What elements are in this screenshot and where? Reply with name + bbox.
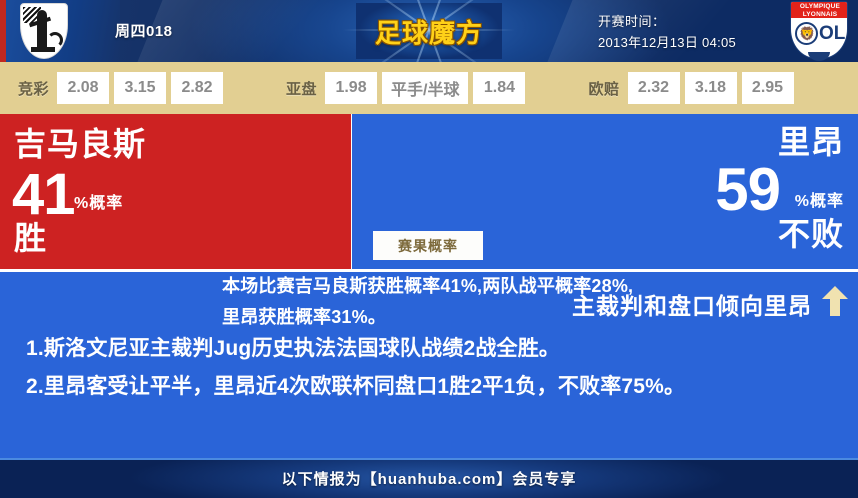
odds-cell-asian-handicap[interactable]: 平手/半球 <box>382 72 468 104</box>
home-team-name: 吉马良斯 <box>14 128 146 160</box>
home-badge-figure-icon <box>37 10 47 50</box>
arrow-up-icon <box>822 286 848 316</box>
odds-cell-asian-home[interactable]: 1.98 <box>325 72 377 104</box>
home-badge-base-icon <box>31 47 55 52</box>
odds-cell-european-away[interactable]: 2.95 <box>742 72 794 104</box>
kickoff-time-label: 开赛时间： <box>598 11 666 30</box>
analysis-list: 1.斯洛文尼亚主裁判Jug历史执法法国球队战绩2战全胜。 2.里昂客受让平半，里… <box>26 330 836 406</box>
probability-section: 吉马良斯 41 %概率 胜 里昂 59 %概率 不败 赛果概率 本场比赛吉马良斯… <box>0 114 858 269</box>
header-accent-bar <box>0 0 6 62</box>
match-number-label: 周四018 <box>115 20 173 41</box>
away-badge-letters: OL <box>819 21 847 47</box>
odds-cell-asian-away[interactable]: 1.84 <box>473 72 525 104</box>
home-outcome-label: 胜 <box>14 222 47 254</box>
home-team-shield-icon <box>20 3 68 59</box>
odds-group-jingcai: 竞彩 2.08 3.15 2.82 <box>18 72 228 104</box>
away-badge-foot-icon <box>808 52 830 61</box>
away-team-badge-icon: OLYMPIQUE LYONNAIS 🦁 OL <box>790 1 848 61</box>
home-probability-suffix: %概率 <box>74 196 123 212</box>
odds-group-asian: 亚盘 1.98 平手/半球 1.84 <box>286 72 530 104</box>
away-probability-value: 59 <box>715 160 780 220</box>
away-outcome-label: 不败 <box>778 218 844 250</box>
odds-cell-jingcai-draw[interactable]: 3.15 <box>114 72 166 104</box>
away-team-name: 里昂 <box>778 126 844 158</box>
away-badge-banner: OLYMPIQUE LYONNAIS <box>791 2 848 18</box>
home-team-badge-icon <box>20 3 68 59</box>
footer-membership-note: 以下情报为【huanhuba.com】会员专享 <box>282 468 577 489</box>
odds-group-label: 亚盘 <box>286 78 317 99</box>
footer-bar: 以下情报为【huanhuba.com】会员专享 <box>0 458 858 498</box>
odds-group-label: 竞彩 <box>18 78 49 99</box>
header-diagonal-sheen-2 <box>547 0 772 62</box>
odds-cell-european-home[interactable]: 2.32 <box>628 72 680 104</box>
odds-cell-jingcai-away[interactable]: 2.82 <box>171 72 223 104</box>
home-probability-panel: 吉马良斯 41 %概率 胜 <box>0 114 351 269</box>
brand-logo: 足球魔方 <box>356 3 502 59</box>
odds-group-european: 欧赔 2.32 3.18 2.95 <box>588 72 798 104</box>
lion-icon: 🦁 <box>799 26 814 41</box>
match-preview-card: 周四018 足球魔方 开赛时间： 2013年12月13日 04:05 OLY <box>0 0 858 498</box>
odds-bar: 竞彩 2.08 3.15 2.82 亚盘 1.98 平手/半球 1.84 欧赔 … <box>0 62 858 114</box>
odds-cell-european-draw[interactable]: 3.18 <box>685 72 737 104</box>
analysis-item-1: 1.斯洛文尼亚主裁判Jug历史执法法国球队战绩2战全胜。 <box>26 330 836 368</box>
away-badge-banner-line2: LYONNAIS <box>791 11 848 19</box>
home-probability-value: 41 <box>12 166 75 224</box>
odds-cell-jingcai-home[interactable]: 2.08 <box>57 72 109 104</box>
away-team-shield-icon: OLYMPIQUE LYONNAIS 🦁 OL <box>790 1 848 59</box>
odds-group-label: 欧赔 <box>588 78 619 99</box>
header-bar: 周四018 足球魔方 开赛时间： 2013年12月13日 04:05 OLY <box>0 0 858 62</box>
away-badge-banner-line1: OLYMPIQUE <box>791 3 848 11</box>
probability-description: 本场比赛吉马良斯获胜概率41%,两队战平概率28%,里昂获胜概率31%。 <box>222 271 642 333</box>
footer-divider <box>0 458 858 460</box>
brand-logo-text: 足球魔方 <box>356 3 502 59</box>
away-probability-suffix: %概率 <box>795 194 844 210</box>
tab-result-probability[interactable]: 赛果概率 <box>373 231 483 260</box>
home-badge-curl-icon <box>47 32 63 48</box>
kickoff-time-value: 2013年12月13日 04:05 <box>598 32 736 51</box>
analysis-item-2: 2.里昂客受让平半，里昂近4次欧联杯同盘口1胜2平1负，不败率75%。 <box>26 368 836 406</box>
